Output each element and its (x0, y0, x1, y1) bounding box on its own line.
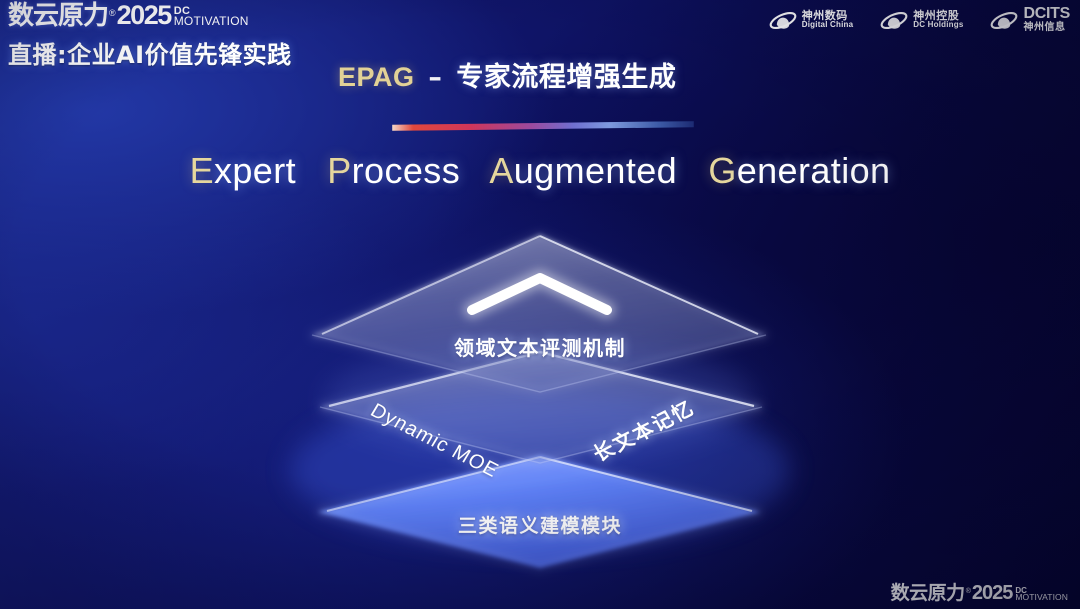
headline-word-process: Process (327, 150, 460, 191)
swirl-logo-icon (989, 8, 1017, 32)
watermark-year: 2025 (972, 583, 1013, 603)
watermark-cn: 数云原力 (891, 584, 965, 603)
swirl-logo-icon (768, 8, 796, 32)
watermark-motivation: MOTIVATION (1015, 594, 1068, 602)
slide-title-acronym: EPAG (338, 62, 415, 92)
slide-title: EPAG – 专家流程增强生成 (338, 55, 676, 94)
layer-plate-top (312, 234, 766, 392)
headline-word-augmented: Augmented (489, 150, 677, 191)
event-logo-year: 2025 (117, 2, 171, 29)
layer-label-bottom: 三类语义建模模块 (0, 511, 1080, 538)
logo-digital-china: 神州数码 Digital China (768, 8, 854, 32)
corporate-logos: 神州数码 Digital China 神州控股 DC Holdings (768, 6, 1070, 33)
logo-label-cn: 神州信息 (1023, 23, 1070, 34)
layer-label-long-text-memory: 长文本记忆 (587, 392, 700, 467)
logo-label-en: DC Holdings (913, 21, 963, 29)
layer-label-dynamic-moe: Dynamic MOE (366, 400, 503, 483)
slide-title-dash: – (428, 62, 442, 93)
footer-watermark: 数云原力 ® 2025 DC MOTIVATION (891, 583, 1068, 603)
chevron-up-icon (472, 278, 607, 310)
logo-label-en: DCITS (1023, 6, 1070, 23)
swirl-logo-icon (879, 8, 907, 32)
registered-mark-icon: ® (109, 9, 116, 18)
event-logo-motivation: MOTIVATION (174, 16, 249, 27)
headline-word-generation: Generation (708, 150, 890, 191)
event-logo: 数云原力 ® 2025 DC MOTIVATION (8, 2, 292, 29)
slide-canvas: 领域文本评测机制 Dynamic MOE 长文本记忆 三类语义建模模块 数云原力… (0, 0, 1080, 609)
logo-label-en: Digital China (802, 21, 854, 29)
logo-dcits: DCITS 神州信息 (989, 6, 1070, 33)
watermark-dc-motivation: DC MOTIVATION (1015, 587, 1068, 602)
event-logo-dc-motivation: DC MOTIVATION (174, 6, 249, 27)
headline-word-expert: Expert (190, 150, 296, 191)
event-logo-cn: 数云原力 (8, 3, 108, 29)
logo-dc-holdings: 神州控股 DC Holdings (879, 8, 963, 32)
layer-label-top: 领域文本评测机制 (0, 332, 1080, 361)
registered-mark-icon: ® (966, 588, 971, 595)
english-headline: Expert Process Augmented Generation (0, 150, 1080, 192)
livestream-subtitle: 直播:企业AI价值先锋实践 (8, 35, 292, 70)
slide-title-chinese: 专家流程增强生成 (456, 62, 676, 93)
header-left: 数云原力 ® 2025 DC MOTIVATION 直播:企业AI价值先锋实践 (8, 2, 292, 70)
title-divider (392, 121, 694, 131)
